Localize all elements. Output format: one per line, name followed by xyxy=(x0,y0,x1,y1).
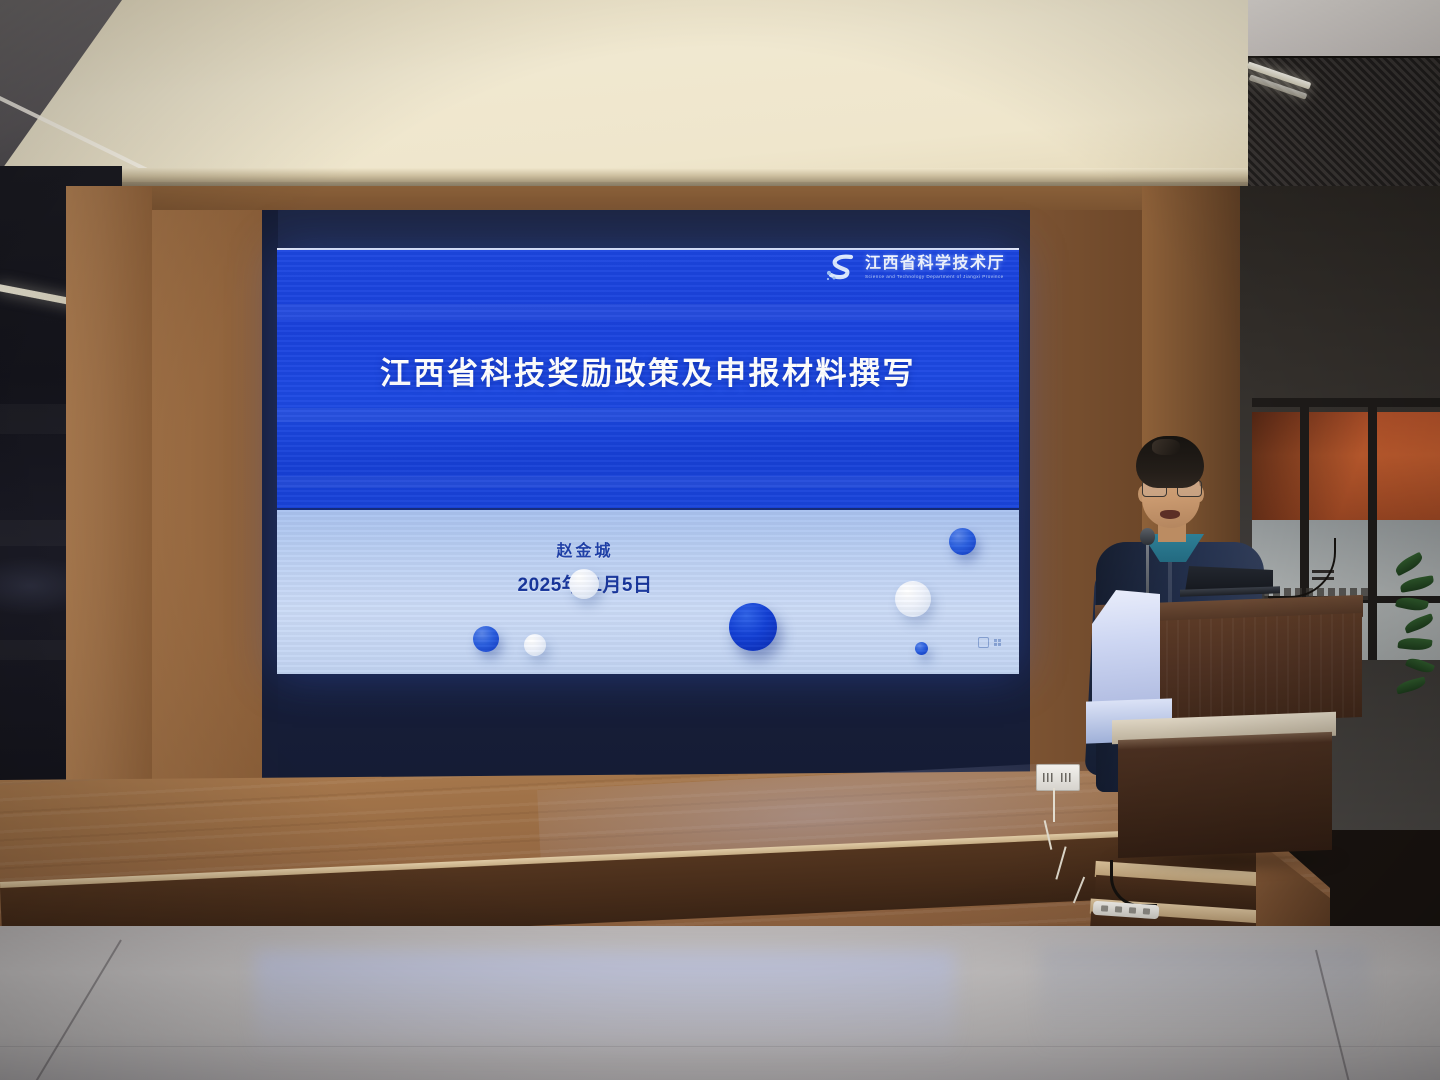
power-cable xyxy=(1053,788,1055,822)
potted-plant-icon xyxy=(1392,532,1440,722)
floor-screen-reflection xyxy=(255,952,955,1080)
ceiling-panel xyxy=(0,0,1440,186)
navy-backdrop-edge xyxy=(262,210,278,826)
presentation-room-photo: 江西省科学技术厅 Science and Technology Departme… xyxy=(0,0,1440,1080)
floor-grout-line xyxy=(0,1046,1440,1047)
speaker-mouth xyxy=(1160,510,1180,519)
wood-pillar-left xyxy=(66,186,152,826)
speaker-hair-part xyxy=(1152,439,1180,455)
wall-power-outlet[interactable] xyxy=(1036,764,1080,791)
orange-wall-shadow xyxy=(1252,412,1440,520)
ceiling-right-soffit xyxy=(1248,0,1440,62)
podium-base xyxy=(1118,732,1332,858)
wood-pillar-left-inner xyxy=(152,210,270,826)
window-mullion xyxy=(1368,400,1377,690)
microphone-icon xyxy=(1140,528,1155,545)
led-scanline-overlay xyxy=(277,250,1019,674)
presentation-screen[interactable]: 江西省科学技术厅 Science and Technology Departme… xyxy=(277,250,1019,674)
window-mullion xyxy=(1252,398,1440,407)
